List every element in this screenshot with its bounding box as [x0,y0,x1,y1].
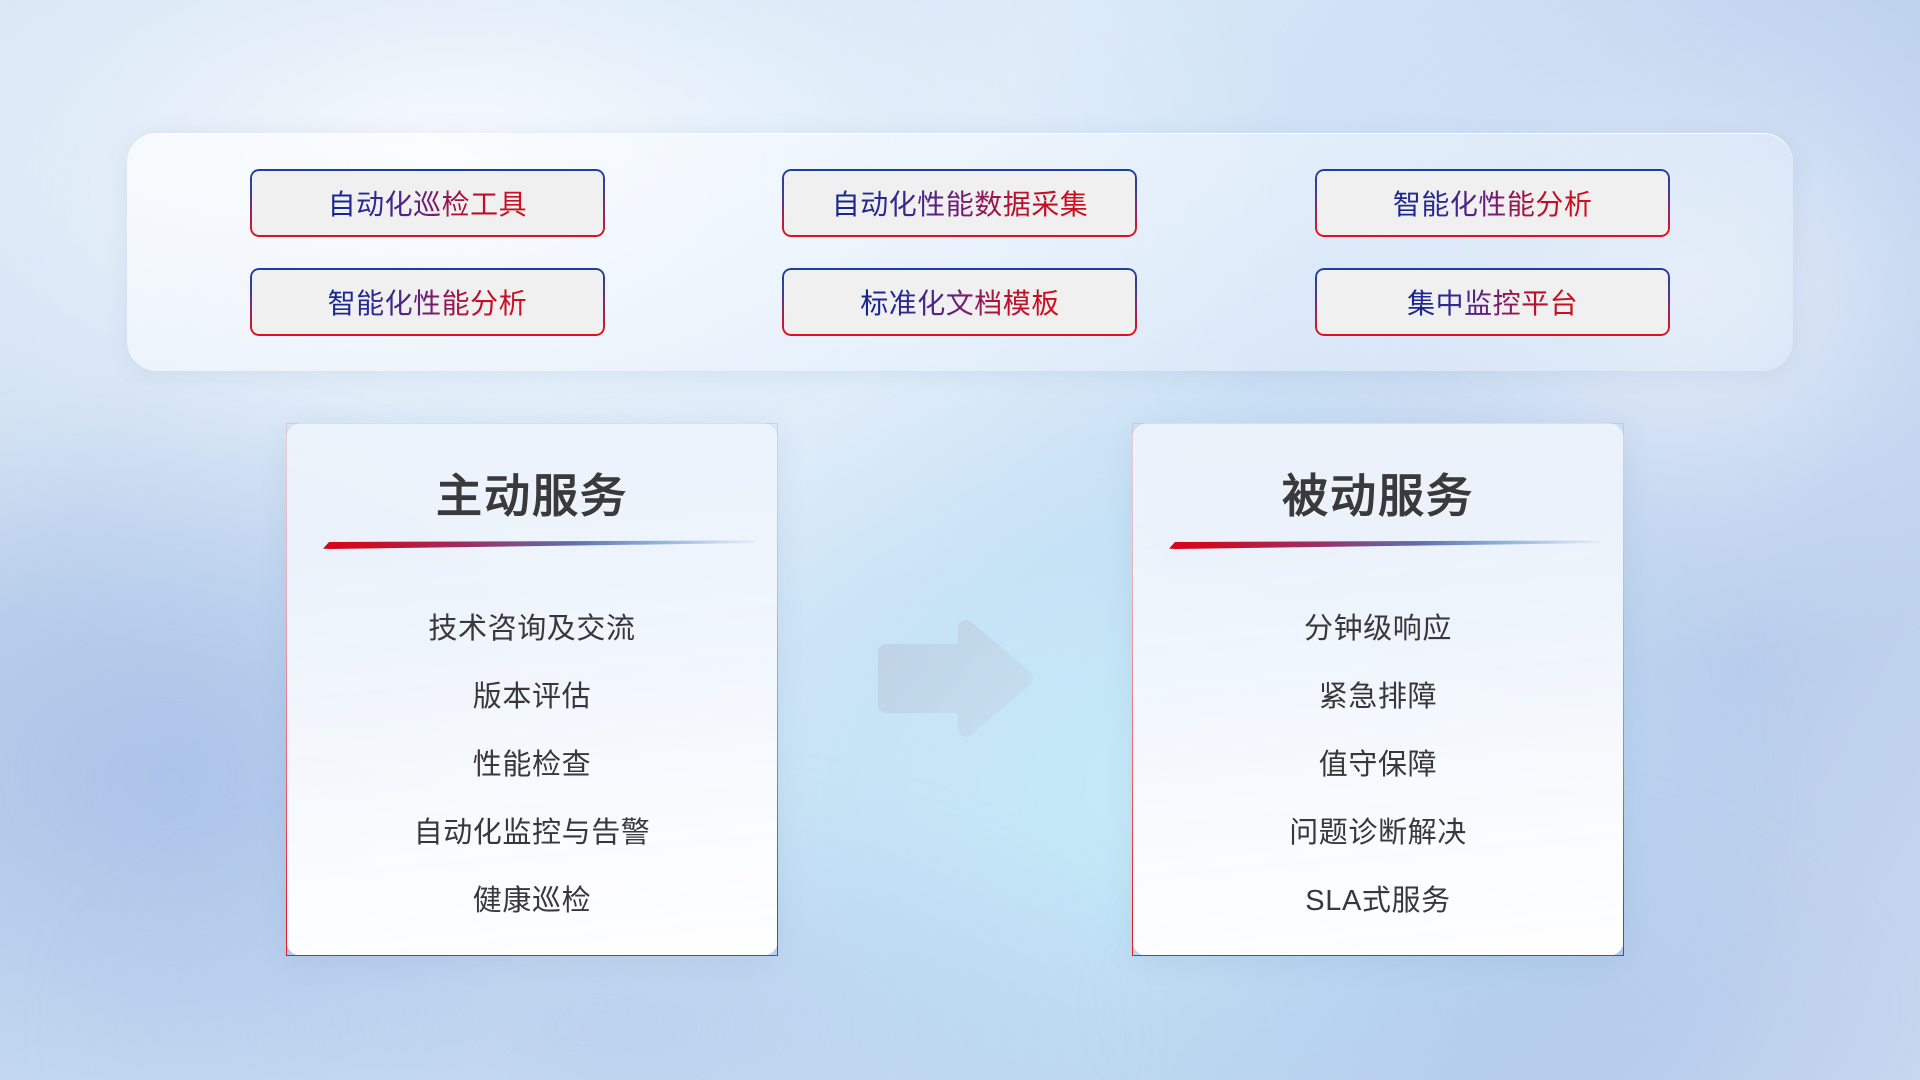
capability-chip[interactable]: 集中监控平台 [1315,268,1670,336]
service-list-item: 自动化监控与告警 [414,799,651,867]
capability-chip[interactable]: 标准化文档模板 [782,268,1137,336]
service-list-item: 技术咨询及交流 [428,596,635,664]
service-card-passive: 被动服务 分钟级响应 紧急排障 值守保障 问题诊断解决 SLA式服务 [1132,423,1624,956]
service-list-item: 健康巡检 [473,867,591,935]
capability-chip-label: 智能化性能分析 [1393,183,1593,223]
service-list-item: 紧急排障 [1319,664,1437,732]
capability-chip-grid: 自动化巡检工具 自动化性能数据采集 智能化性能分析 智能化性能分析 标准化文档模… [127,133,1793,371]
capability-chip-label: 标准化文档模板 [860,282,1060,322]
service-card-list: 技术咨询及交流 版本评估 性能检查 自动化监控与告警 健康巡检 [287,584,777,935]
capability-chip[interactable]: 智能化性能分析 [250,268,605,336]
capability-chip-label: 自动化性能数据采集 [832,183,1089,223]
service-list-item: 版本评估 [473,664,591,732]
capability-chip[interactable]: 智能化性能分析 [1315,169,1670,237]
capability-chip[interactable]: 自动化性能数据采集 [782,169,1137,237]
capability-chip-label: 集中监控平台 [1407,282,1578,322]
service-card-list: 分钟级响应 紧急排障 值守保障 问题诊断解决 SLA式服务 [1133,584,1623,935]
service-list-item: 性能检查 [473,732,591,800]
capability-chip-label: 智能化性能分析 [328,282,528,322]
service-card-title: 主动服务 [287,460,777,526]
service-card-title: 被动服务 [1133,460,1623,526]
service-list-item: 问题诊断解决 [1289,799,1467,867]
service-list-item: 分钟级响应 [1304,596,1452,664]
service-card-active: 主动服务 技术咨询及交流 版本评估 性能检查 自动化监控与告警 健康巡检 [286,423,778,956]
card-divider-icon [1169,540,1601,549]
service-list-item: SLA式服务 [1305,867,1450,935]
capabilities-panel: 自动化巡检工具 自动化性能数据采集 智能化性能分析 智能化性能分析 标准化文档模… [127,133,1793,371]
capability-chip[interactable]: 自动化巡检工具 [250,169,605,237]
service-list-item: 值守保障 [1319,732,1437,800]
flow-arrow-right-icon [872,620,1038,738]
capability-chip-label: 自动化巡检工具 [328,183,528,223]
card-divider-icon [323,540,755,549]
